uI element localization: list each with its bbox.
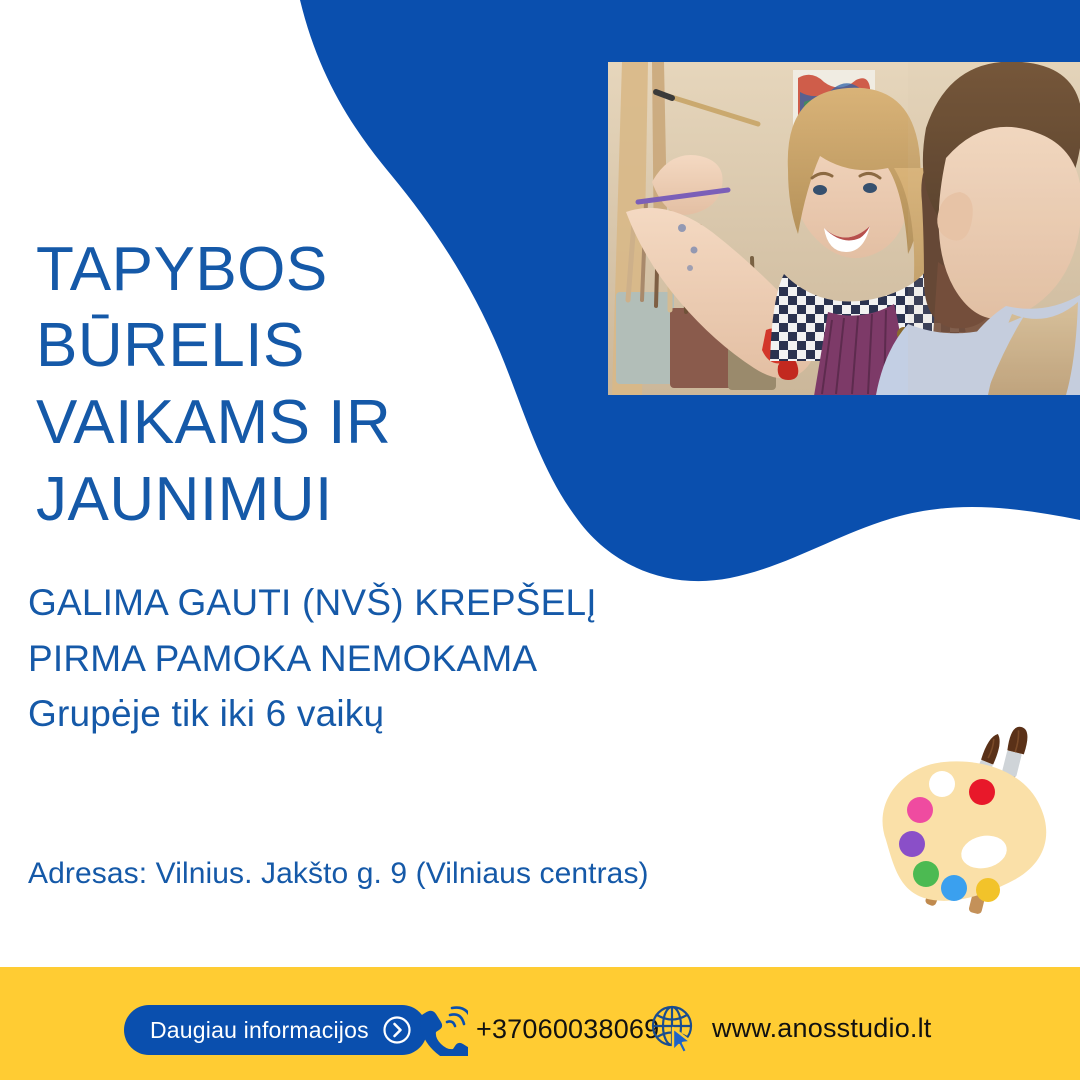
detail-line-free-lesson: PIRMA PAMOKA NEMOKAMA	[28, 631, 728, 687]
website-contact[interactable]: www.anosstudio.lt	[648, 1002, 932, 1054]
paint-palette-icon	[858, 722, 1080, 948]
art-class-photo	[608, 62, 1080, 395]
chevron-right-circle-icon	[383, 1016, 411, 1044]
ringing-phone-icon	[414, 1002, 468, 1056]
phone-contact[interactable]: +37060038069	[414, 1002, 659, 1056]
globe-cursor-icon	[648, 1002, 700, 1054]
more-info-button[interactable]: Daugiau informacijos	[124, 1005, 427, 1055]
phone-number: +37060038069	[476, 1014, 659, 1045]
page-title: TAPYBOS BŪRELIS VAIKAMS IR JAUNIMUI	[36, 232, 596, 540]
detail-line-group-size: Grupėje tik iki 6 vaikų	[28, 686, 728, 742]
detail-line-voucher: GALIMA GAUTI (NVŠ) KREPŠELĮ	[28, 575, 728, 631]
website-url: www.anosstudio.lt	[712, 1013, 932, 1044]
details-block: GALIMA GAUTI (NVŠ) KREPŠELĮ PIRMA PAMOKA…	[28, 575, 728, 742]
poster-canvas: TAPYBOS BŪRELIS VAIKAMS IR JAUNIMUI GALI…	[0, 0, 1080, 1080]
more-info-button-label: Daugiau informacijos	[150, 1017, 369, 1044]
address-text: Adresas: Vilnius. Jakšto g. 9 (Vilniaus …	[28, 857, 649, 891]
